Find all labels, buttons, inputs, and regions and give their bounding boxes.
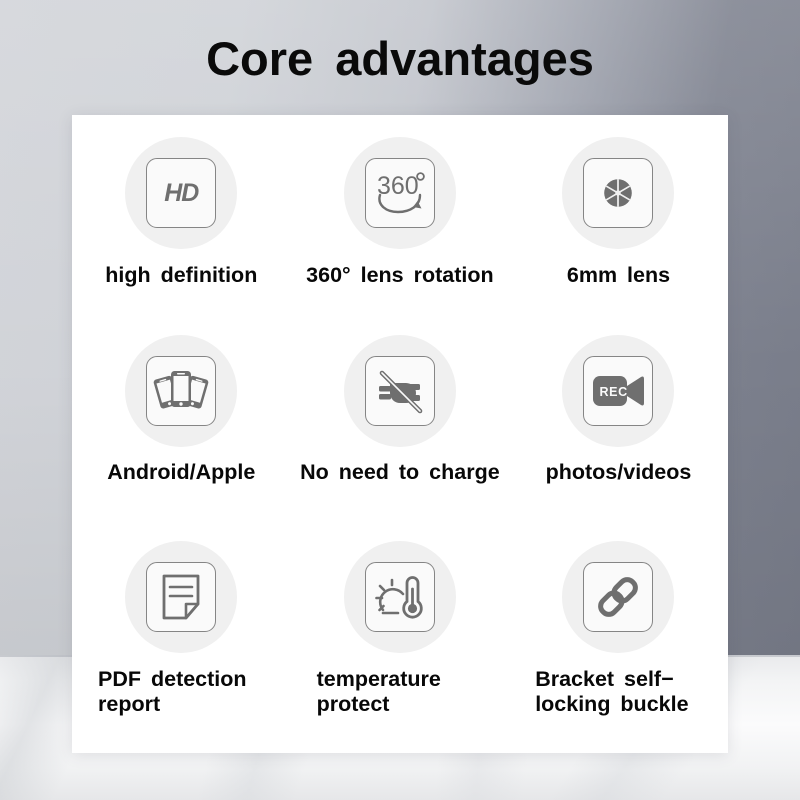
svg-text:360: 360 — [377, 172, 419, 200]
feature-row: Android/Apple — [72, 331, 728, 537]
feature-label: Android/Apple — [107, 460, 255, 485]
plug-off-icon — [365, 356, 435, 426]
feature-item-compatibility[interactable]: Android/Apple — [72, 331, 291, 537]
feature-item-self-locking-bracket[interactable]: Bracket self− locking buckle — [509, 537, 728, 749]
hd-icon: HD — [146, 158, 216, 228]
icon-circle — [562, 541, 674, 653]
chain-link-icon — [583, 562, 653, 632]
product-feature-infographic: Core advantages HD high definition — [0, 0, 800, 800]
feature-item-media-capture[interactable]: REC photos/videos — [509, 331, 728, 537]
icon-circle: 360 — [344, 137, 456, 249]
feature-item-high-definition[interactable]: HD high definition — [72, 133, 291, 331]
icon-circle — [562, 137, 674, 249]
rec-icon-label: REC — [600, 385, 628, 399]
feature-row: PDF detection report — [72, 537, 728, 749]
feature-card: HD high definition 360 — [72, 115, 728, 753]
360-rotation-icon: 360 — [365, 158, 435, 228]
feature-label: 6mm lens — [567, 263, 670, 288]
page-title: Core advantages — [0, 33, 800, 85]
feature-item-pdf-report[interactable]: PDF detection report — [72, 537, 291, 749]
feature-item-lens-size[interactable]: 6mm lens — [509, 133, 728, 331]
feature-label: 360° lens rotation — [306, 263, 493, 288]
feature-item-lens-rotation[interactable]: 360 360° lens rotation — [291, 133, 510, 331]
feature-label: photos/videos — [546, 460, 692, 485]
feature-item-no-charge[interactable]: No need to charge — [291, 331, 510, 537]
feature-item-temperature-protect[interactable]: temperature protect — [291, 537, 510, 749]
phones-icon — [146, 356, 216, 426]
icon-circle — [125, 335, 237, 447]
video-camera-rec-icon: REC — [583, 356, 653, 426]
document-icon — [146, 562, 216, 632]
icon-circle: HD — [125, 137, 237, 249]
feature-row: HD high definition 360 — [72, 133, 728, 331]
feature-grid: HD high definition 360 — [72, 133, 728, 749]
hd-icon-label: HD — [164, 181, 198, 206]
aperture-icon — [583, 158, 653, 228]
sun-thermometer-icon — [365, 562, 435, 632]
icon-circle — [344, 335, 456, 447]
feature-label: temperature protect — [291, 667, 510, 717]
icon-circle — [344, 541, 456, 653]
feature-label: PDF detection report — [72, 667, 291, 717]
icon-circle: REC — [562, 335, 674, 447]
feature-label: No need to charge — [300, 460, 500, 485]
feature-label: high definition — [105, 263, 257, 288]
feature-label: Bracket self− locking buckle — [509, 667, 728, 717]
icon-circle — [125, 541, 237, 653]
